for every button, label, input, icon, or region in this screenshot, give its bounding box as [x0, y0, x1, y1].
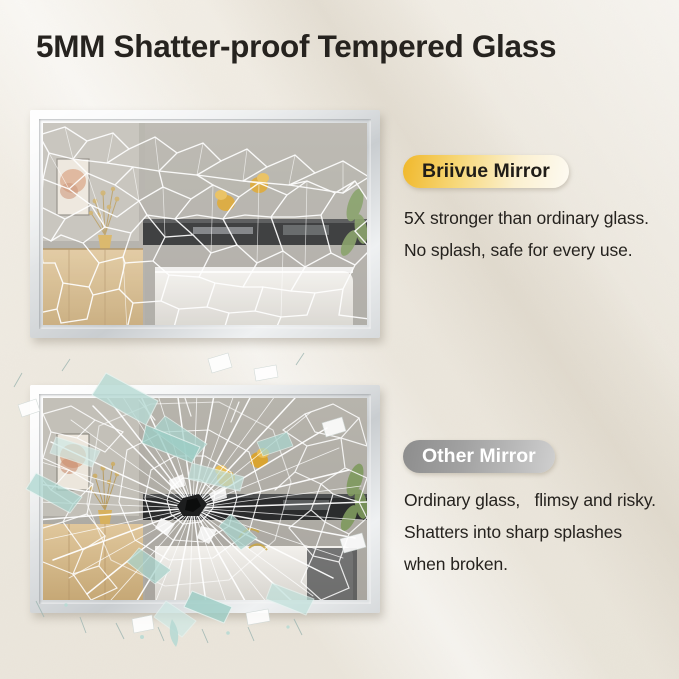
mirror-glass-intact: [43, 123, 367, 325]
page-title: 5MM Shatter-proof Tempered Glass: [36, 28, 656, 65]
crazed-glass-pattern: [43, 123, 367, 325]
infographic-page: 5MM Shatter-proof Tempered Glass: [0, 0, 679, 679]
briivue-mirror-photo: [30, 110, 380, 338]
badge-briivue-label: Briivue Mirror: [422, 160, 550, 183]
other-mirror-photo: [30, 385, 380, 613]
shatter-impact-pattern: [43, 398, 367, 600]
badge-other-label: Other Mirror: [422, 445, 536, 468]
briivue-description: 5X stronger than ordinary glass. No spla…: [404, 203, 662, 267]
other-description: Ordinary glass, flimsy and risky. Shatte…: [404, 485, 662, 581]
badge-briivue-mirror: Briivue Mirror: [403, 155, 569, 188]
mirror-glass-shattered: [43, 398, 367, 600]
badge-other-mirror: Other Mirror: [403, 440, 555, 473]
